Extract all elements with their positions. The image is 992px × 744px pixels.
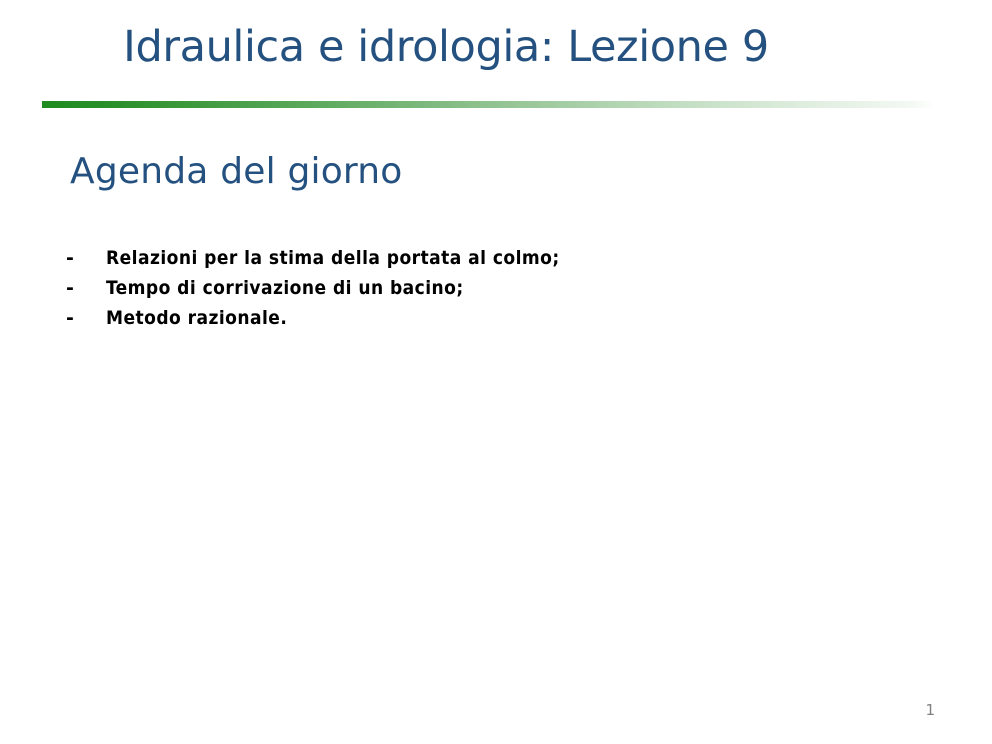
- page-number: 1: [925, 700, 935, 720]
- list-item: - Relazioni per la stima della portata a…: [66, 243, 560, 273]
- list-item-label: Relazioni per la stima della portata al …: [106, 243, 560, 273]
- presentation-slide: Idraulica e idrologia: Lezione 9 Agenda …: [0, 0, 992, 744]
- agenda-heading: Agenda del giorno: [70, 149, 403, 195]
- agenda-bullet-list: - Relazioni per la stima della portata a…: [66, 243, 560, 333]
- hyphen-bullet-icon: -: [66, 303, 106, 333]
- title-divider-rule: [42, 101, 935, 108]
- list-item: - Metodo razionale.: [66, 303, 560, 333]
- list-item: - Tempo di corrivazione di un bacino;: [66, 273, 560, 303]
- list-item-label: Tempo di corrivazione di un bacino;: [106, 273, 464, 303]
- hyphen-bullet-icon: -: [66, 273, 106, 303]
- slide-title: Idraulica e idrologia: Lezione 9: [0, 18, 892, 76]
- hyphen-bullet-icon: -: [66, 243, 106, 273]
- list-item-label: Metodo razionale.: [106, 303, 287, 333]
